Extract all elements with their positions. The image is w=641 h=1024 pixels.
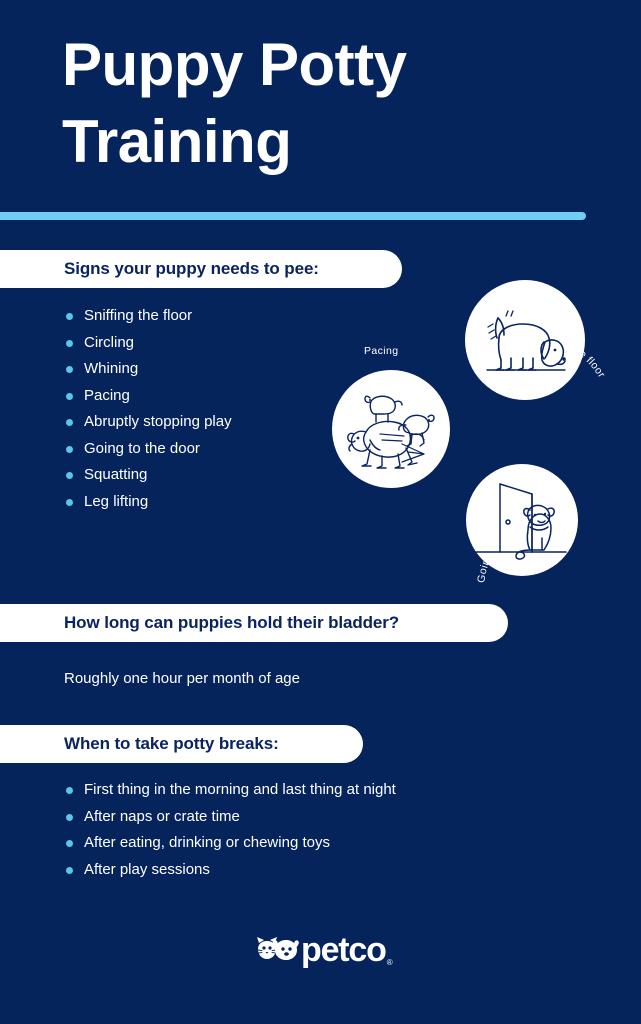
list-item-label: After play sessions (84, 861, 210, 878)
bullet-dot-icon (66, 499, 73, 506)
bullet-dot-icon (66, 366, 73, 373)
illustration-label-pacing: Pacing (364, 345, 399, 357)
potty-breaks-list: First thing in the morning and last thin… (64, 777, 396, 883)
illustration-pacing: Pacing (332, 370, 450, 488)
list-item-label: Going to the door (84, 440, 200, 457)
petco-wordmark: petco (301, 933, 386, 967)
petco-logo: petco ® (253, 929, 398, 971)
infographic-page: Puppy Potty Training Signs your puppy ne… (0, 0, 641, 1024)
section-heading-signs-label: Signs your puppy needs to pee: (64, 259, 319, 279)
registered-mark: ® (387, 958, 393, 967)
section-heading-potty-breaks-label: When to take potty breaks: (64, 734, 279, 754)
illustration-sniffing-the-floor: Sniffing the floor (465, 280, 585, 400)
list-item-label: Circling (84, 334, 134, 351)
list-item-label: After naps or crate time (84, 808, 240, 825)
bladder-answer-text: Roughly one hour per month of age (64, 670, 300, 687)
bullet-dot-icon (66, 814, 73, 821)
section-heading-bladder: How long can puppies hold their bladder? (0, 604, 508, 642)
list-item-label: First thing in the morning and last thin… (84, 781, 396, 798)
illustration-going-to-the-door: Going to the door (466, 464, 578, 576)
list-item-label: Whining (84, 360, 138, 377)
bullet-dot-icon (66, 472, 73, 479)
list-item-label: Pacing (84, 387, 130, 404)
bullet-dot-icon (66, 340, 73, 347)
page-title-line-2: Training (62, 103, 582, 180)
bullet-dot-icon (66, 840, 73, 847)
list-item: After play sessions (64, 857, 396, 884)
list-item-label: Leg lifting (84, 493, 148, 510)
bullet-dot-icon (66, 787, 73, 794)
list-item: Sniffing the floor (64, 303, 232, 330)
list-item: Going to the door (64, 436, 232, 463)
section-heading-bladder-label: How long can puppies hold their bladder? (64, 613, 399, 633)
bullet-dot-icon (66, 393, 73, 400)
list-item: Circling (64, 330, 232, 357)
bullet-dot-icon (66, 313, 73, 320)
list-item: First thing in the morning and last thin… (64, 777, 396, 804)
list-item: Squatting (64, 462, 232, 489)
list-item-label: Squatting (84, 466, 147, 483)
page-title: Puppy Potty Training (62, 26, 582, 180)
cat-and-dog-icon (253, 933, 299, 967)
section-heading-signs: Signs your puppy needs to pee: (0, 250, 402, 288)
list-item: After naps or crate time (64, 804, 396, 831)
bullet-dot-icon (66, 867, 73, 874)
list-item: After eating, drinking or chewing toys (64, 830, 396, 857)
list-item: Whining (64, 356, 232, 383)
list-item-label: After eating, drinking or chewing toys (84, 834, 330, 851)
dog-at-door-icon (466, 464, 578, 576)
list-item: Pacing (64, 383, 232, 410)
section-heading-potty-breaks: When to take potty breaks: (0, 725, 363, 763)
page-title-line-1: Puppy Potty (62, 26, 582, 103)
list-item: Leg lifting (64, 489, 232, 516)
list-item: Abruptly stopping play (64, 409, 232, 436)
bullet-dot-icon (66, 419, 73, 426)
dogs-pacing-icon (332, 370, 450, 488)
list-item-label: Abruptly stopping play (84, 413, 232, 430)
bullet-dot-icon (66, 446, 73, 453)
list-item-label: Sniffing the floor (84, 307, 192, 324)
signs-list: Sniffing the floor Circling Whining Paci… (64, 303, 232, 515)
accent-divider-bar (0, 212, 586, 220)
dog-sniffing-floor-icon (465, 280, 585, 400)
